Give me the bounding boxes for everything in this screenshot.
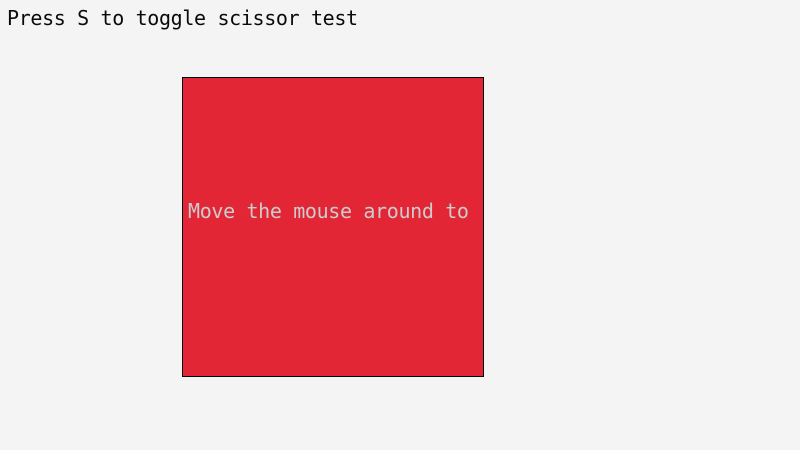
scissor-toggle-hint: Press S to toggle scissor test [7, 6, 358, 30]
scissor-clipped-message: Move the mouse around to r [188, 199, 483, 223]
scissor-region-rect: Move the mouse around to r [182, 77, 484, 377]
app-canvas: Press S to toggle scissor test Move the … [0, 0, 800, 450]
scissor-clip-layer: Move the mouse around to r [183, 78, 483, 376]
